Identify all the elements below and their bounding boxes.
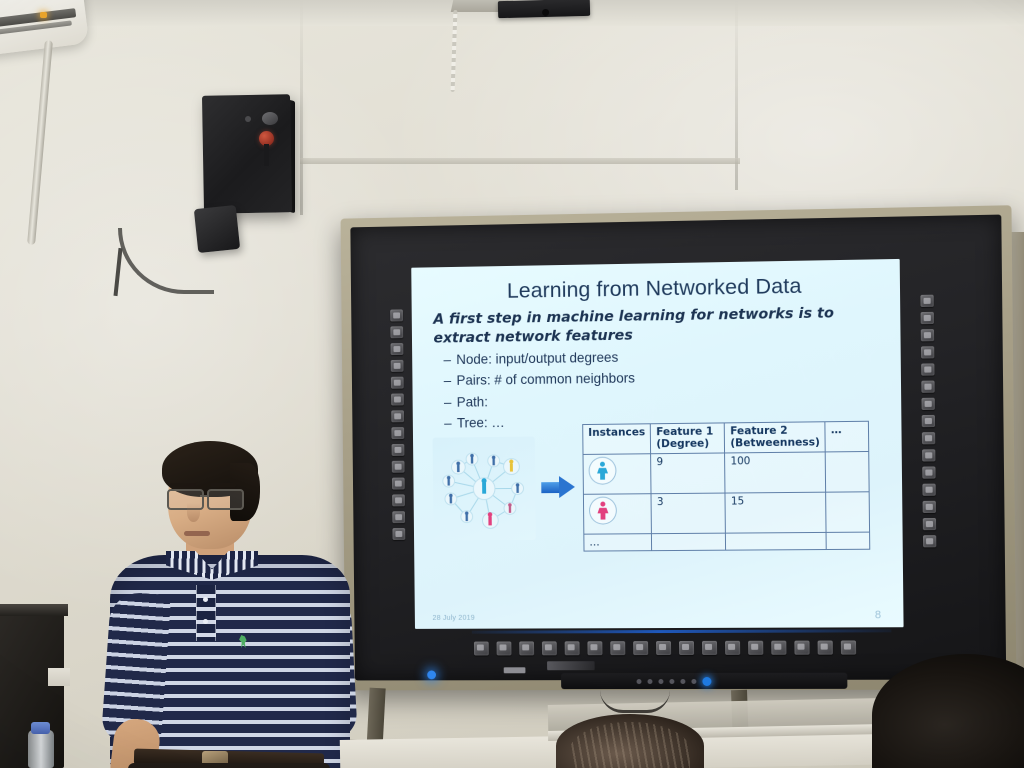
bezel-power-icon[interactable]	[390, 309, 403, 321]
feature1-line1: Feature 1	[656, 426, 713, 439]
whiteboard-control-panel[interactable]	[561, 673, 847, 689]
table-row: 3 15	[583, 492, 870, 534]
feature-table: Instances Feature 1 (Degree) Feature 2 (…	[582, 421, 870, 552]
ceiling-projector-mount	[498, 0, 590, 18]
bezel-icon-row-bottom[interactable]	[474, 640, 856, 655]
wall-seam	[300, 0, 303, 215]
bezel-volume-down-icon[interactable]	[921, 363, 934, 375]
feature2-value: 100	[725, 452, 826, 493]
bezel-icon-column-left[interactable]	[390, 309, 405, 540]
control-panel-led	[702, 676, 711, 685]
control-dot[interactable]	[636, 679, 641, 684]
instance-cell	[583, 494, 651, 534]
control-dot[interactable]	[680, 678, 685, 683]
bezel-freeze-icon[interactable]	[922, 432, 935, 444]
presenter	[110, 443, 350, 768]
bezel-highlighter-icon[interactable]	[391, 360, 404, 372]
person-icon-pink	[589, 497, 617, 525]
bullet-text: Pairs: # of common neighbors	[456, 371, 635, 388]
bezel-save-icon[interactable]	[391, 427, 404, 439]
bezel-settings-icon[interactable]	[392, 511, 405, 523]
bullet-dash: –	[443, 352, 456, 367]
bezel-annotate-icon[interactable]	[519, 641, 534, 655]
bezel-contrast-icon[interactable]	[922, 398, 935, 410]
whiteboard-screen[interactable]: Learning from Networked Data A first ste…	[411, 259, 903, 629]
bezel-image-icon[interactable]	[818, 641, 833, 655]
feature2-value	[726, 533, 827, 551]
slide-bullet-item: –Pairs: # of common neighbors	[444, 367, 887, 388]
whiteboard-power-led	[427, 670, 436, 679]
bezel-apps-icon[interactable]	[923, 535, 936, 547]
bezel-clock-icon[interactable]	[725, 641, 740, 655]
slide-page-number: 8	[875, 609, 881, 621]
table-header-feature1: Feature 1 (Degree)	[651, 423, 725, 454]
presenter-shirt-placket	[196, 585, 216, 641]
feature2-value: 15	[725, 492, 826, 533]
table-header-more: …	[825, 421, 869, 452]
more-value	[826, 532, 870, 549]
network-graph-illustration	[433, 437, 536, 541]
bezel-browser-icon[interactable]	[587, 641, 602, 655]
person-icon-blue	[588, 457, 616, 485]
slide-body: Instances Feature 1 (Degree) Feature 2 (…	[427, 433, 889, 553]
speaker-indicator-dot	[245, 116, 251, 122]
speaker-bracket	[194, 205, 240, 253]
bezel-pen-icon[interactable]	[390, 326, 403, 338]
table-header-feature2: Feature 2 (Betweenness)	[725, 422, 826, 453]
presenter-mouth	[184, 531, 210, 536]
shirt-button	[203, 619, 208, 624]
bezel-document-icon[interactable]	[794, 641, 809, 655]
whiteboard-usb-port[interactable]	[504, 667, 526, 673]
bezel-pen-alt-icon[interactable]	[391, 343, 404, 355]
wall-rail	[300, 158, 740, 164]
more-value	[826, 452, 870, 493]
speaker-knob[interactable]	[262, 112, 278, 125]
bezel-camera-icon[interactable]	[565, 641, 580, 655]
air-conditioner-led	[40, 12, 47, 18]
water-bottle-cap	[31, 722, 50, 734]
table-header-row: Instances Feature 1 (Degree) Feature 2 (…	[583, 421, 869, 454]
feature1-value: 9	[651, 453, 725, 494]
control-dot[interactable]	[691, 678, 696, 683]
bezel-capture-icon[interactable]	[542, 641, 557, 655]
bezel-source-icon[interactable]	[474, 642, 489, 656]
bezel-blank-icon[interactable]	[922, 449, 935, 461]
bezel-shape-icon[interactable]	[391, 410, 404, 422]
bezel-calculator-icon[interactable]	[656, 641, 671, 655]
control-dot[interactable]	[647, 679, 652, 684]
more-value	[826, 492, 870, 533]
slide-title: Learning from Networked Data	[425, 272, 886, 305]
table-header-instances: Instances	[583, 424, 651, 455]
presenter-glasses	[167, 489, 253, 506]
feature1-value: 3	[651, 493, 725, 534]
feature1-value	[652, 533, 726, 551]
bezel-timer-icon[interactable]	[702, 641, 717, 655]
bezel-vga-icon[interactable]	[921, 329, 934, 341]
bezel-folder-icon[interactable]	[633, 641, 648, 655]
bezel-redo-icon[interactable]	[392, 494, 405, 506]
table-row: …	[584, 532, 870, 551]
bezel-page-icon[interactable]	[392, 461, 405, 473]
podium-notch	[48, 668, 70, 686]
bezel-display-icon[interactable]	[922, 415, 935, 427]
bezel-grid-icon[interactable]	[392, 444, 405, 456]
wall-speaker	[202, 94, 292, 214]
lecture-room-photo: Learning from Networked Data A first ste…	[0, 0, 1024, 768]
interactive-whiteboard[interactable]: Learning from Networked Data A first ste…	[341, 205, 1017, 690]
bezel-hdmi-icon[interactable]	[921, 312, 934, 324]
bezel-input-icon[interactable]	[920, 295, 933, 307]
bezel-menu-icon[interactable]	[922, 484, 935, 496]
bezel-zoom-icon[interactable]	[922, 466, 935, 478]
shirt-button	[203, 597, 208, 602]
table-row: 9 100	[583, 452, 870, 495]
right-arrow-icon	[541, 476, 575, 498]
bezel-whiteboard-icon[interactable]	[497, 641, 512, 655]
bezel-keyboard-icon[interactable]	[771, 641, 786, 655]
slide-footer-date: 28 July 2019	[432, 613, 474, 622]
instance-ellipsis: …	[584, 534, 652, 551]
bezel-brightness-icon[interactable]	[921, 381, 934, 393]
presenter-nose	[187, 503, 200, 522]
bezel-accent-strip	[472, 629, 892, 633]
bezel-close-icon[interactable]	[923, 501, 936, 513]
bullet-text: Path:	[457, 394, 488, 409]
feature2-line2: (Betweenness)	[730, 437, 820, 450]
speaker-antenna	[264, 144, 269, 166]
presenter-trousers	[128, 763, 330, 768]
feature1-line2: (Degree)	[656, 438, 709, 451]
bullet-dash: –	[444, 373, 457, 388]
presenter-eyebrow	[210, 483, 236, 487]
whiteboard-bezel: Learning from Networked Data A first ste…	[350, 215, 1006, 681]
slide-lead-text: A first step in machine learning for net…	[433, 304, 886, 349]
bezel-select-icon[interactable]	[391, 393, 404, 405]
podium-top-surface	[0, 604, 68, 616]
control-dot[interactable]	[669, 679, 674, 684]
bezel-icon-column-right[interactable]	[920, 295, 936, 548]
bullet-text: Node: input/output degrees	[456, 350, 618, 367]
bezel-file-icon[interactable]	[610, 641, 625, 655]
control-dot[interactable]	[658, 679, 663, 684]
slide-bullet-item: –Node: input/output degrees	[443, 346, 886, 367]
bezel-list-icon[interactable]	[923, 518, 936, 530]
bezel-volume-up-icon[interactable]	[921, 346, 934, 358]
slide-bullet-list: –Node: input/output degrees –Pairs: # of…	[443, 346, 887, 431]
presentation-slide: Learning from Networked Data A first ste…	[411, 259, 903, 629]
bullet-dash: –	[444, 395, 457, 410]
slide-bullet-item: –Path:	[444, 389, 887, 410]
whiteboard-brand-logo	[547, 661, 595, 670]
bezel-eraser-icon[interactable]	[391, 377, 404, 389]
bezel-home-icon[interactable]	[392, 528, 405, 540]
bezel-video-icon[interactable]	[748, 641, 763, 655]
water-bottle	[28, 730, 54, 768]
bezel-undo-icon[interactable]	[392, 478, 405, 490]
presenter-eyebrow	[170, 483, 196, 487]
bullet-text: Tree: …	[457, 415, 505, 430]
feature2-line1: Feature 2	[730, 425, 788, 438]
instance-cell	[583, 454, 651, 495]
glasses-lens-right	[207, 489, 244, 510]
bezel-spotlight-icon[interactable]	[679, 641, 694, 655]
bezel-more-icon[interactable]	[841, 640, 856, 654]
bullet-dash: –	[444, 416, 457, 431]
